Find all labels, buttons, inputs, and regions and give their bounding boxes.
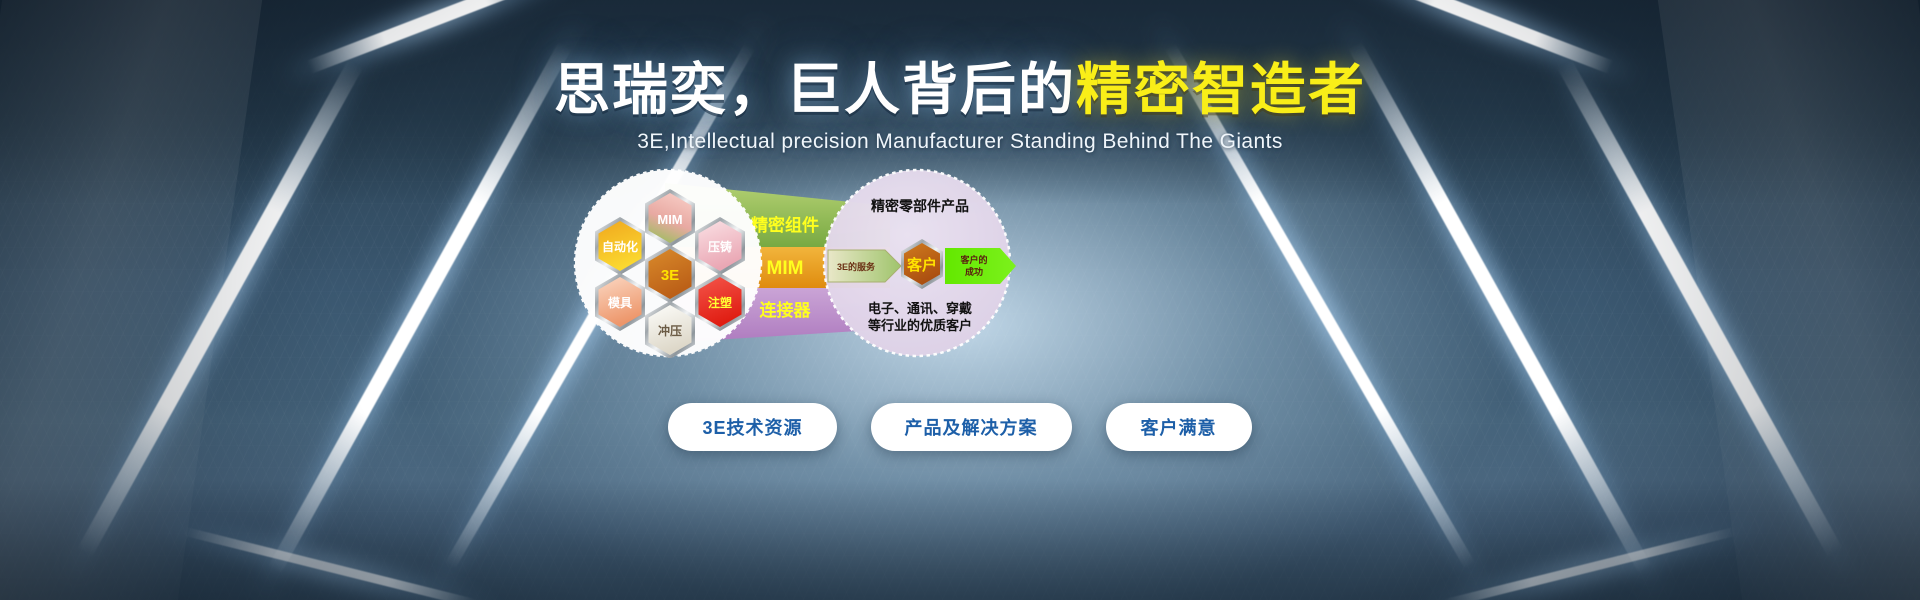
hex-label-zhusu: 注塑 (708, 295, 732, 310)
right-arrow-label-1: 客户的 (959, 254, 987, 265)
page-subtitle: 3E,Intellectual precision Manufacturer S… (0, 130, 1920, 154)
hex-label-mim: MIM (657, 212, 682, 227)
page-title: 思瑞奕，巨人背后的精密智造者 (0, 62, 1920, 118)
right-circle-footer-2: 等行业的优质客户 (867, 318, 972, 333)
hex-label-3e: 3E (661, 267, 679, 284)
hex-label-chongya: 冲压 (658, 323, 682, 338)
right-circle-heading: 精密零部件产品 (871, 198, 969, 214)
right-circle-footer-1: 电子、通讯、穿戴 (868, 301, 972, 316)
cta-pill-customer-satisfaction[interactable]: 客户满意 (1106, 403, 1252, 451)
center-hex-label: 客户 (906, 256, 937, 274)
band-label-0: 精密组件 (751, 215, 819, 235)
cta-pill-tech-resources[interactable]: 3E技术资源 (668, 403, 836, 451)
right-circle-group: 精密零部件产品 3E的服务 客户的 成功 客户 电子、通讯、穿戴 等行业的优质客… (824, 170, 1016, 356)
cta-pill-products-solutions[interactable]: 产品及解决方案 (871, 403, 1072, 451)
band-label-2: 连接器 (760, 300, 812, 320)
process-diagram: 精密组件 MIM 连接器 精密零部件产品 3E的服务 客户的 成功 客户 电子、… (560, 168, 1040, 358)
hero-banner: 思瑞奕，巨人背后的精密智造者 3E,Intellectual precision… (0, 0, 1920, 600)
right-arrow-label-2: 成功 (965, 266, 983, 277)
hero-heading-block: 思瑞奕，巨人背后的精密智造者 3E,Intellectual precision… (0, 62, 1920, 154)
band-label-1: MIM (767, 258, 804, 279)
cta-pill-row: 3E技术资源 产品及解决方案 客户满意 (0, 403, 1920, 451)
page-title-highlight: 精密智造者 (1076, 58, 1366, 121)
hex-label-muju: 模具 (608, 295, 632, 310)
left-arrow-label: 3E的服务 (837, 261, 876, 272)
light-strip-floor-left (183, 527, 476, 600)
light-strip-floor-right (1443, 527, 1736, 600)
page-title-plain: 思瑞奕，巨人背后的 (554, 58, 1076, 121)
hex-label-zidonghua: 自动化 (602, 239, 638, 254)
hex-label-yazhu: 压铸 (708, 239, 732, 254)
